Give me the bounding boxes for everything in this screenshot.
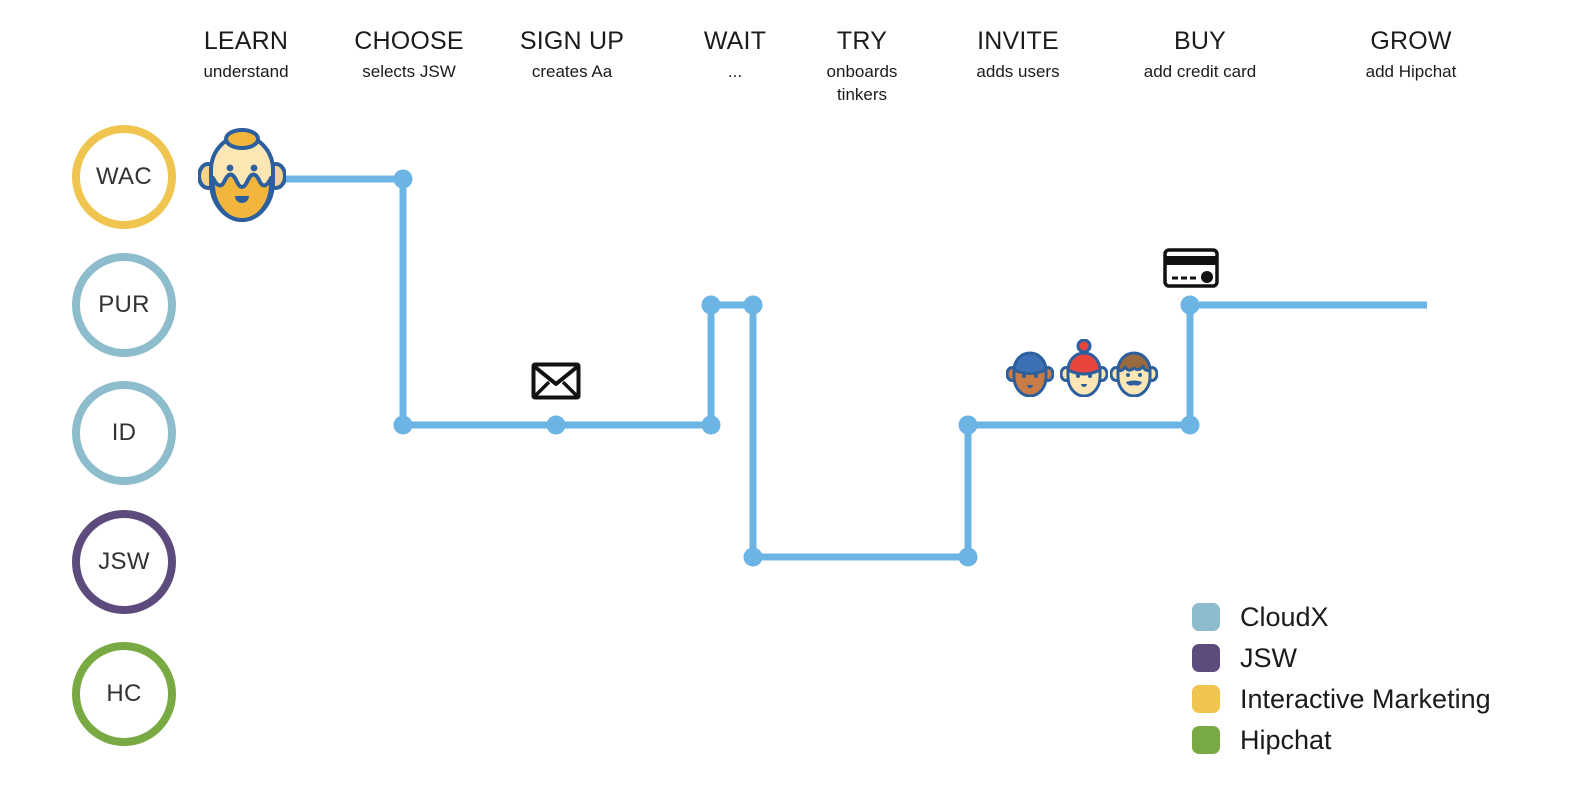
journey-node[interactable] xyxy=(1181,296,1200,315)
journey-connector-line xyxy=(283,179,1427,557)
legend: CloudXJSWInteractive MarketingHipchat xyxy=(1192,596,1491,760)
legend-label: Hipchat xyxy=(1240,725,1332,755)
journey-node[interactable] xyxy=(744,296,763,315)
legend-color-swatch xyxy=(1192,603,1220,631)
legend-item: Interactive Marketing xyxy=(1192,678,1491,719)
legend-item: JSW xyxy=(1192,637,1491,678)
avatar-blue-hair xyxy=(1006,345,1054,402)
journey-map-canvas: LEARNunderstandCHOOSEselects JSWSIGN UPc… xyxy=(0,0,1586,792)
journey-node[interactable] xyxy=(959,548,978,567)
bearded-user-avatar xyxy=(198,118,286,229)
journey-node[interactable] xyxy=(702,296,721,315)
legend-item: Hipchat xyxy=(1192,719,1491,760)
legend-label: Interactive Marketing xyxy=(1240,684,1491,714)
avatar-red-bun xyxy=(1060,339,1108,402)
legend-label: JSW xyxy=(1240,643,1297,673)
legend-color-swatch xyxy=(1192,644,1220,672)
legend-color-swatch xyxy=(1192,726,1220,754)
legend-item: CloudX xyxy=(1192,596,1491,637)
journey-node[interactable] xyxy=(1181,416,1200,435)
journey-node[interactable] xyxy=(394,416,413,435)
journey-node[interactable] xyxy=(547,416,566,435)
journey-node[interactable] xyxy=(394,170,413,189)
credit-card-icon xyxy=(1163,248,1219,293)
journey-node[interactable] xyxy=(744,548,763,567)
envelope-icon xyxy=(531,362,581,405)
journey-node[interactable] xyxy=(702,416,721,435)
avatar-mustache xyxy=(1110,345,1158,402)
journey-node[interactable] xyxy=(959,416,978,435)
legend-label: CloudX xyxy=(1240,602,1329,632)
legend-color-swatch xyxy=(1192,685,1220,713)
